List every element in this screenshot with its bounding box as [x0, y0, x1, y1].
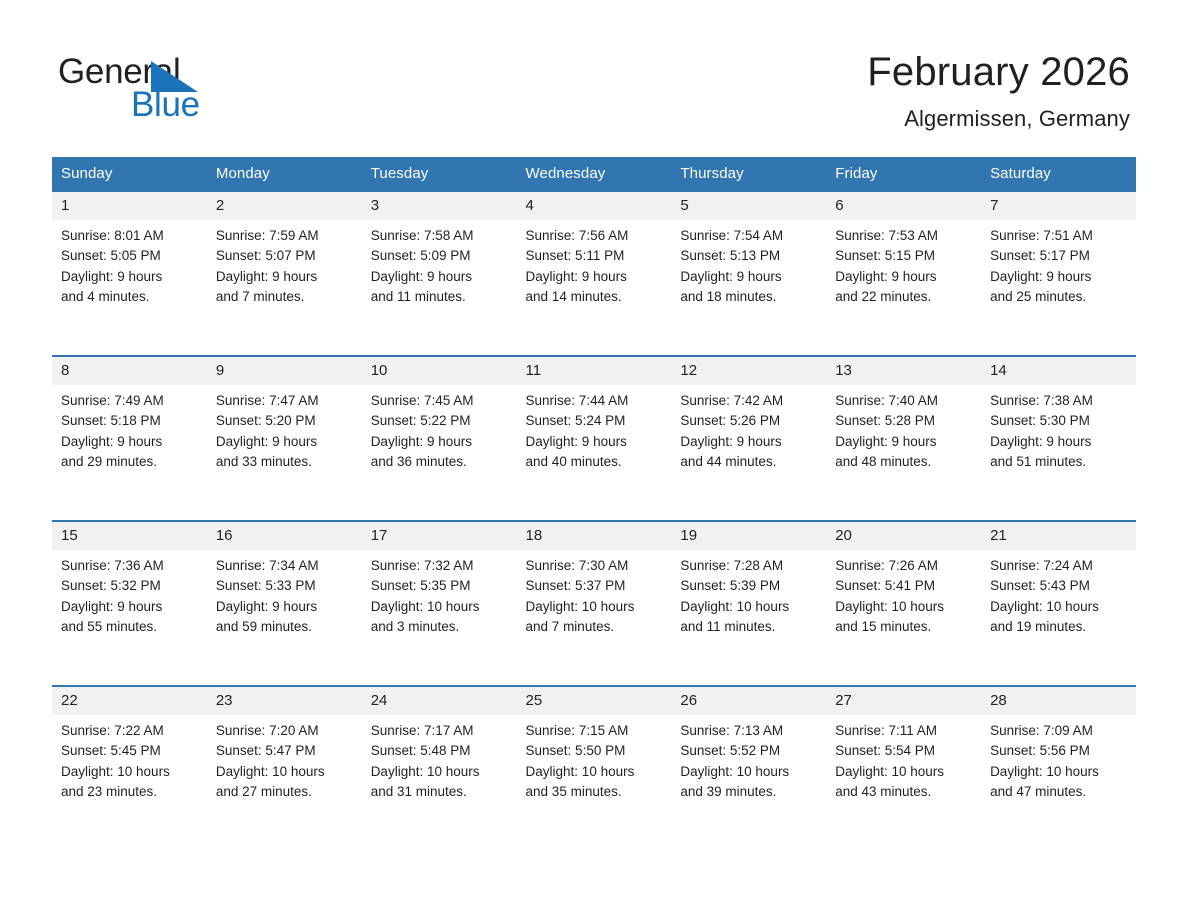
- day-number: 7: [981, 192, 1136, 220]
- daylight-text-line2: and 59 minutes.: [216, 617, 356, 637]
- daylight-text-line1: Daylight: 9 hours: [371, 432, 511, 452]
- sunrise-text: Sunrise: 8:01 AM: [61, 226, 201, 246]
- sunrise-text: Sunrise: 7:22 AM: [61, 721, 201, 741]
- day-number: 27: [826, 687, 981, 715]
- week-row: 8 Sunrise: 7:49 AM Sunset: 5:18 PM Dayli…: [52, 356, 1136, 521]
- sunrise-text: Sunrise: 7:56 AM: [526, 226, 666, 246]
- sunrise-text: Sunrise: 7:54 AM: [680, 226, 820, 246]
- day-number: 3: [362, 192, 517, 220]
- sunrise-text: Sunrise: 7:09 AM: [990, 721, 1130, 741]
- sunset-text: Sunset: 5:13 PM: [680, 246, 820, 266]
- daylight-text-line1: Daylight: 10 hours: [526, 762, 666, 782]
- sunset-text: Sunset: 5:50 PM: [526, 741, 666, 761]
- daylight-text-line1: Daylight: 9 hours: [526, 432, 666, 452]
- calendar-body: 1 Sunrise: 8:01 AM Sunset: 5:05 PM Dayli…: [52, 191, 1136, 850]
- daylight-text-line2: and 27 minutes.: [216, 782, 356, 802]
- daylight-text-line1: Daylight: 9 hours: [680, 267, 820, 287]
- sunrise-text: Sunrise: 7:32 AM: [371, 556, 511, 576]
- daylight-text-line1: Daylight: 10 hours: [371, 762, 511, 782]
- daylight-text-line2: and 14 minutes.: [526, 287, 666, 307]
- day-cell[interactable]: 28 Sunrise: 7:09 AM Sunset: 5:56 PM Dayl…: [981, 686, 1136, 850]
- day-details: Sunrise: 7:30 AM Sunset: 5:37 PM Dayligh…: [517, 550, 672, 637]
- day-cell[interactable]: 7 Sunrise: 7:51 AM Sunset: 5:17 PM Dayli…: [981, 191, 1136, 356]
- sunrise-text: Sunrise: 7:15 AM: [526, 721, 666, 741]
- sunrise-text: Sunrise: 7:51 AM: [990, 226, 1130, 246]
- day-cell[interactable]: 8 Sunrise: 7:49 AM Sunset: 5:18 PM Dayli…: [52, 356, 207, 521]
- sunrise-text: Sunrise: 7:13 AM: [680, 721, 820, 741]
- daylight-text-line2: and 11 minutes.: [371, 287, 511, 307]
- day-cell[interactable]: 5 Sunrise: 7:54 AM Sunset: 5:13 PM Dayli…: [671, 191, 826, 356]
- sunset-text: Sunset: 5:24 PM: [526, 411, 666, 431]
- daylight-text-line2: and 7 minutes.: [526, 617, 666, 637]
- daylight-text-line1: Daylight: 10 hours: [990, 597, 1130, 617]
- day-details: Sunrise: 7:28 AM Sunset: 5:39 PM Dayligh…: [671, 550, 826, 637]
- day-cell[interactable]: 19 Sunrise: 7:28 AM Sunset: 5:39 PM Dayl…: [671, 521, 826, 686]
- day-details: Sunrise: 7:20 AM Sunset: 5:47 PM Dayligh…: [207, 715, 362, 802]
- sunset-text: Sunset: 5:47 PM: [216, 741, 356, 761]
- sunrise-text: Sunrise: 7:11 AM: [835, 721, 975, 741]
- daylight-text-line1: Daylight: 9 hours: [61, 597, 201, 617]
- sunrise-text: Sunrise: 7:45 AM: [371, 391, 511, 411]
- daylight-text-line2: and 7 minutes.: [216, 287, 356, 307]
- day-details: Sunrise: 7:58 AM Sunset: 5:09 PM Dayligh…: [362, 220, 517, 307]
- sunset-text: Sunset: 5:35 PM: [371, 576, 511, 596]
- daylight-text-line1: Daylight: 9 hours: [61, 432, 201, 452]
- day-cell[interactable]: 1 Sunrise: 8:01 AM Sunset: 5:05 PM Dayli…: [52, 191, 207, 356]
- day-cell[interactable]: 23 Sunrise: 7:20 AM Sunset: 5:47 PM Dayl…: [207, 686, 362, 850]
- daylight-text-line2: and 3 minutes.: [371, 617, 511, 637]
- sunset-text: Sunset: 5:52 PM: [680, 741, 820, 761]
- day-details: Sunrise: 7:40 AM Sunset: 5:28 PM Dayligh…: [826, 385, 981, 472]
- week-row: 1 Sunrise: 8:01 AM Sunset: 5:05 PM Dayli…: [52, 191, 1136, 356]
- daylight-text-line1: Daylight: 9 hours: [61, 267, 201, 287]
- day-cell[interactable]: 3 Sunrise: 7:58 AM Sunset: 5:09 PM Dayli…: [362, 191, 517, 356]
- weekday-header-monday: Monday: [207, 157, 362, 191]
- daylight-text-line2: and 55 minutes.: [61, 617, 201, 637]
- day-details: Sunrise: 7:44 AM Sunset: 5:24 PM Dayligh…: [517, 385, 672, 472]
- sunrise-text: Sunrise: 7:36 AM: [61, 556, 201, 576]
- sunrise-text: Sunrise: 7:24 AM: [990, 556, 1130, 576]
- daylight-text-line2: and 35 minutes.: [526, 782, 666, 802]
- day-cell[interactable]: 18 Sunrise: 7:30 AM Sunset: 5:37 PM Dayl…: [517, 521, 672, 686]
- day-number: 1: [52, 192, 207, 220]
- daylight-text-line1: Daylight: 9 hours: [990, 432, 1130, 452]
- day-number: 15: [52, 522, 207, 550]
- day-number: 25: [517, 687, 672, 715]
- day-details: Sunrise: 7:53 AM Sunset: 5:15 PM Dayligh…: [826, 220, 981, 307]
- daylight-text-line1: Daylight: 10 hours: [216, 762, 356, 782]
- day-details: Sunrise: 7:47 AM Sunset: 5:20 PM Dayligh…: [207, 385, 362, 472]
- day-number: 19: [671, 522, 826, 550]
- day-details: Sunrise: 7:26 AM Sunset: 5:41 PM Dayligh…: [826, 550, 981, 637]
- sunset-text: Sunset: 5:32 PM: [61, 576, 201, 596]
- day-cell[interactable]: 6 Sunrise: 7:53 AM Sunset: 5:15 PM Dayli…: [826, 191, 981, 356]
- daylight-text-line1: Daylight: 9 hours: [216, 432, 356, 452]
- weekday-header-friday: Friday: [826, 157, 981, 191]
- daylight-text-line1: Daylight: 9 hours: [680, 432, 820, 452]
- week-row: 15 Sunrise: 7:36 AM Sunset: 5:32 PM Dayl…: [52, 521, 1136, 686]
- daylight-text-line2: and 18 minutes.: [680, 287, 820, 307]
- sunset-text: Sunset: 5:33 PM: [216, 576, 356, 596]
- sunrise-text: Sunrise: 7:38 AM: [990, 391, 1130, 411]
- day-details: Sunrise: 7:51 AM Sunset: 5:17 PM Dayligh…: [981, 220, 1136, 307]
- day-number: 20: [826, 522, 981, 550]
- day-cell[interactable]: 4 Sunrise: 7:56 AM Sunset: 5:11 PM Dayli…: [517, 191, 672, 356]
- daylight-text-line1: Daylight: 10 hours: [835, 597, 975, 617]
- day-number: 16: [207, 522, 362, 550]
- day-number: 21: [981, 522, 1136, 550]
- day-cell[interactable]: 24 Sunrise: 7:17 AM Sunset: 5:48 PM Dayl…: [362, 686, 517, 850]
- sunrise-text: Sunrise: 7:26 AM: [835, 556, 975, 576]
- daylight-text-line1: Daylight: 10 hours: [371, 597, 511, 617]
- daylight-text-line1: Daylight: 9 hours: [371, 267, 511, 287]
- sunset-text: Sunset: 5:18 PM: [61, 411, 201, 431]
- day-details: Sunrise: 7:56 AM Sunset: 5:11 PM Dayligh…: [517, 220, 672, 307]
- day-number: 6: [826, 192, 981, 220]
- sunrise-text: Sunrise: 7:49 AM: [61, 391, 201, 411]
- day-details: Sunrise: 7:11 AM Sunset: 5:54 PM Dayligh…: [826, 715, 981, 802]
- weekday-header-thursday: Thursday: [671, 157, 826, 191]
- daylight-text-line1: Daylight: 10 hours: [835, 762, 975, 782]
- day-cell[interactable]: 10 Sunrise: 7:45 AM Sunset: 5:22 PM Dayl…: [362, 356, 517, 521]
- sunrise-text: Sunrise: 7:42 AM: [680, 391, 820, 411]
- day-details: Sunrise: 7:24 AM Sunset: 5:43 PM Dayligh…: [981, 550, 1136, 637]
- day-cell[interactable]: 9 Sunrise: 7:47 AM Sunset: 5:20 PM Dayli…: [207, 356, 362, 521]
- day-details: Sunrise: 7:59 AM Sunset: 5:07 PM Dayligh…: [207, 220, 362, 307]
- location-subtitle: Algermissen, Germany: [867, 105, 1130, 133]
- day-details: Sunrise: 8:01 AM Sunset: 5:05 PM Dayligh…: [52, 220, 207, 307]
- day-details: Sunrise: 7:13 AM Sunset: 5:52 PM Dayligh…: [671, 715, 826, 802]
- page-header: General Blue February 2026 Algermissen, …: [0, 0, 1188, 152]
- sunset-text: Sunset: 5:39 PM: [680, 576, 820, 596]
- sunset-text: Sunset: 5:15 PM: [835, 246, 975, 266]
- weekday-header-saturday: Saturday: [981, 157, 1136, 191]
- week-row: 22 Sunrise: 7:22 AM Sunset: 5:45 PM Dayl…: [52, 686, 1136, 850]
- sunrise-text: Sunrise: 7:40 AM: [835, 391, 975, 411]
- sunrise-text: Sunrise: 7:59 AM: [216, 226, 356, 246]
- day-details: Sunrise: 7:49 AM Sunset: 5:18 PM Dayligh…: [52, 385, 207, 472]
- calendar-page: General Blue February 2026 Algermissen, …: [0, 0, 1188, 918]
- generalblue-logo[interactable]: General Blue: [58, 52, 258, 124]
- daylight-text-line2: and 33 minutes.: [216, 452, 356, 472]
- day-number: 18: [517, 522, 672, 550]
- sunset-text: Sunset: 5:11 PM: [526, 246, 666, 266]
- day-details: Sunrise: 7:54 AM Sunset: 5:13 PM Dayligh…: [671, 220, 826, 307]
- day-number: 2: [207, 192, 362, 220]
- day-cell[interactable]: 27 Sunrise: 7:11 AM Sunset: 5:54 PM Dayl…: [826, 686, 981, 850]
- sunset-text: Sunset: 5:20 PM: [216, 411, 356, 431]
- day-cell[interactable]: 21 Sunrise: 7:24 AM Sunset: 5:43 PM Dayl…: [981, 521, 1136, 686]
- daylight-text-line2: and 47 minutes.: [990, 782, 1130, 802]
- day-number: 24: [362, 687, 517, 715]
- day-details: Sunrise: 7:38 AM Sunset: 5:30 PM Dayligh…: [981, 385, 1136, 472]
- sunrise-text: Sunrise: 7:44 AM: [526, 391, 666, 411]
- daylight-text-line1: Daylight: 9 hours: [990, 267, 1130, 287]
- daylight-text-line2: and 29 minutes.: [61, 452, 201, 472]
- day-details: Sunrise: 7:17 AM Sunset: 5:48 PM Dayligh…: [362, 715, 517, 802]
- sunrise-text: Sunrise: 7:58 AM: [371, 226, 511, 246]
- daylight-text-line2: and 39 minutes.: [680, 782, 820, 802]
- daylight-text-line2: and 40 minutes.: [526, 452, 666, 472]
- sunset-text: Sunset: 5:09 PM: [371, 246, 511, 266]
- day-details: Sunrise: 7:22 AM Sunset: 5:45 PM Dayligh…: [52, 715, 207, 802]
- daylight-text-line2: and 43 minutes.: [835, 782, 975, 802]
- day-number: 17: [362, 522, 517, 550]
- day-cell[interactable]: 13 Sunrise: 7:40 AM Sunset: 5:28 PM Dayl…: [826, 356, 981, 521]
- sunset-text: Sunset: 5:28 PM: [835, 411, 975, 431]
- calendar-header-row: Sunday Monday Tuesday Wednesday Thursday…: [52, 157, 1136, 191]
- day-number: 13: [826, 357, 981, 385]
- day-details: Sunrise: 7:36 AM Sunset: 5:32 PM Dayligh…: [52, 550, 207, 637]
- daylight-text-line2: and 48 minutes.: [835, 452, 975, 472]
- sunset-text: Sunset: 5:05 PM: [61, 246, 201, 266]
- day-cell[interactable]: 20 Sunrise: 7:26 AM Sunset: 5:41 PM Dayl…: [826, 521, 981, 686]
- day-number: 26: [671, 687, 826, 715]
- day-number: 23: [207, 687, 362, 715]
- daylight-text-line1: Daylight: 10 hours: [990, 762, 1130, 782]
- daylight-text-line2: and 44 minutes.: [680, 452, 820, 472]
- sunrise-text: Sunrise: 7:47 AM: [216, 391, 356, 411]
- weekday-header-wednesday: Wednesday: [517, 157, 672, 191]
- daylight-text-line2: and 36 minutes.: [371, 452, 511, 472]
- daylight-text-line2: and 51 minutes.: [990, 452, 1130, 472]
- logo-text-blue: Blue: [131, 85, 200, 125]
- day-details: Sunrise: 7:45 AM Sunset: 5:22 PM Dayligh…: [362, 385, 517, 472]
- sunrise-text: Sunrise: 7:30 AM: [526, 556, 666, 576]
- day-number: 4: [517, 192, 672, 220]
- day-cell[interactable]: 15 Sunrise: 7:36 AM Sunset: 5:32 PM Dayl…: [52, 521, 207, 686]
- day-cell[interactable]: 26 Sunrise: 7:13 AM Sunset: 5:52 PM Dayl…: [671, 686, 826, 850]
- day-number: 8: [52, 357, 207, 385]
- daylight-text-line1: Daylight: 9 hours: [835, 432, 975, 452]
- daylight-text-line1: Daylight: 10 hours: [680, 762, 820, 782]
- day-cell[interactable]: 22 Sunrise: 7:22 AM Sunset: 5:45 PM Dayl…: [52, 686, 207, 850]
- daylight-text-line2: and 31 minutes.: [371, 782, 511, 802]
- day-cell[interactable]: 25 Sunrise: 7:15 AM Sunset: 5:50 PM Dayl…: [517, 686, 672, 850]
- sunset-text: Sunset: 5:56 PM: [990, 741, 1130, 761]
- title-block: February 2026 Algermissen, Germany: [867, 48, 1130, 133]
- daylight-text-line2: and 19 minutes.: [990, 617, 1130, 637]
- weekday-header-tuesday: Tuesday: [362, 157, 517, 191]
- daylight-text-line2: and 23 minutes.: [61, 782, 201, 802]
- day-details: Sunrise: 7:09 AM Sunset: 5:56 PM Dayligh…: [981, 715, 1136, 802]
- sunrise-text: Sunrise: 7:20 AM: [216, 721, 356, 741]
- daylight-text-line1: Daylight: 10 hours: [526, 597, 666, 617]
- day-details: Sunrise: 7:32 AM Sunset: 5:35 PM Dayligh…: [362, 550, 517, 637]
- sunset-text: Sunset: 5:45 PM: [61, 741, 201, 761]
- day-number: 11: [517, 357, 672, 385]
- sunset-text: Sunset: 5:37 PM: [526, 576, 666, 596]
- day-details: Sunrise: 7:15 AM Sunset: 5:50 PM Dayligh…: [517, 715, 672, 802]
- day-cell[interactable]: 17 Sunrise: 7:32 AM Sunset: 5:35 PM Dayl…: [362, 521, 517, 686]
- sunset-text: Sunset: 5:17 PM: [990, 246, 1130, 266]
- sunset-text: Sunset: 5:26 PM: [680, 411, 820, 431]
- sunset-text: Sunset: 5:41 PM: [835, 576, 975, 596]
- day-number: 5: [671, 192, 826, 220]
- sunset-text: Sunset: 5:43 PM: [990, 576, 1130, 596]
- sunset-text: Sunset: 5:48 PM: [371, 741, 511, 761]
- daylight-text-line1: Daylight: 10 hours: [680, 597, 820, 617]
- day-number: 10: [362, 357, 517, 385]
- weekday-header-sunday: Sunday: [52, 157, 207, 191]
- day-cell[interactable]: 11 Sunrise: 7:44 AM Sunset: 5:24 PM Dayl…: [517, 356, 672, 521]
- sunrise-text: Sunrise: 7:17 AM: [371, 721, 511, 741]
- sunrise-text: Sunrise: 7:34 AM: [216, 556, 356, 576]
- page-title: February 2026: [867, 48, 1130, 96]
- day-cell[interactable]: 12 Sunrise: 7:42 AM Sunset: 5:26 PM Dayl…: [671, 356, 826, 521]
- day-cell[interactable]: 2 Sunrise: 7:59 AM Sunset: 5:07 PM Dayli…: [207, 191, 362, 356]
- day-details: Sunrise: 7:42 AM Sunset: 5:26 PM Dayligh…: [671, 385, 826, 472]
- day-number: 9: [207, 357, 362, 385]
- day-number: 22: [52, 687, 207, 715]
- day-number: 28: [981, 687, 1136, 715]
- daylight-text-line2: and 4 minutes.: [61, 287, 201, 307]
- day-cell[interactable]: 16 Sunrise: 7:34 AM Sunset: 5:33 PM Dayl…: [207, 521, 362, 686]
- day-number: 12: [671, 357, 826, 385]
- daylight-text-line2: and 22 minutes.: [835, 287, 975, 307]
- sunset-text: Sunset: 5:22 PM: [371, 411, 511, 431]
- sunset-text: Sunset: 5:54 PM: [835, 741, 975, 761]
- daylight-text-line1: Daylight: 9 hours: [835, 267, 975, 287]
- daylight-text-line1: Daylight: 9 hours: [216, 597, 356, 617]
- daylight-text-line2: and 25 minutes.: [990, 287, 1130, 307]
- sunrise-text: Sunrise: 7:53 AM: [835, 226, 975, 246]
- daylight-text-line2: and 15 minutes.: [835, 617, 975, 637]
- sunset-text: Sunset: 5:07 PM: [216, 246, 356, 266]
- daylight-text-line1: Daylight: 9 hours: [216, 267, 356, 287]
- sunset-text: Sunset: 5:30 PM: [990, 411, 1130, 431]
- daylight-text-line1: Daylight: 10 hours: [61, 762, 201, 782]
- sunrise-text: Sunrise: 7:28 AM: [680, 556, 820, 576]
- daylight-text-line2: and 11 minutes.: [680, 617, 820, 637]
- day-cell[interactable]: 14 Sunrise: 7:38 AM Sunset: 5:30 PM Dayl…: [981, 356, 1136, 521]
- daylight-text-line1: Daylight: 9 hours: [526, 267, 666, 287]
- sunrise-sunset-calendar: Sunday Monday Tuesday Wednesday Thursday…: [52, 157, 1136, 850]
- day-number: 14: [981, 357, 1136, 385]
- day-details: Sunrise: 7:34 AM Sunset: 5:33 PM Dayligh…: [207, 550, 362, 637]
